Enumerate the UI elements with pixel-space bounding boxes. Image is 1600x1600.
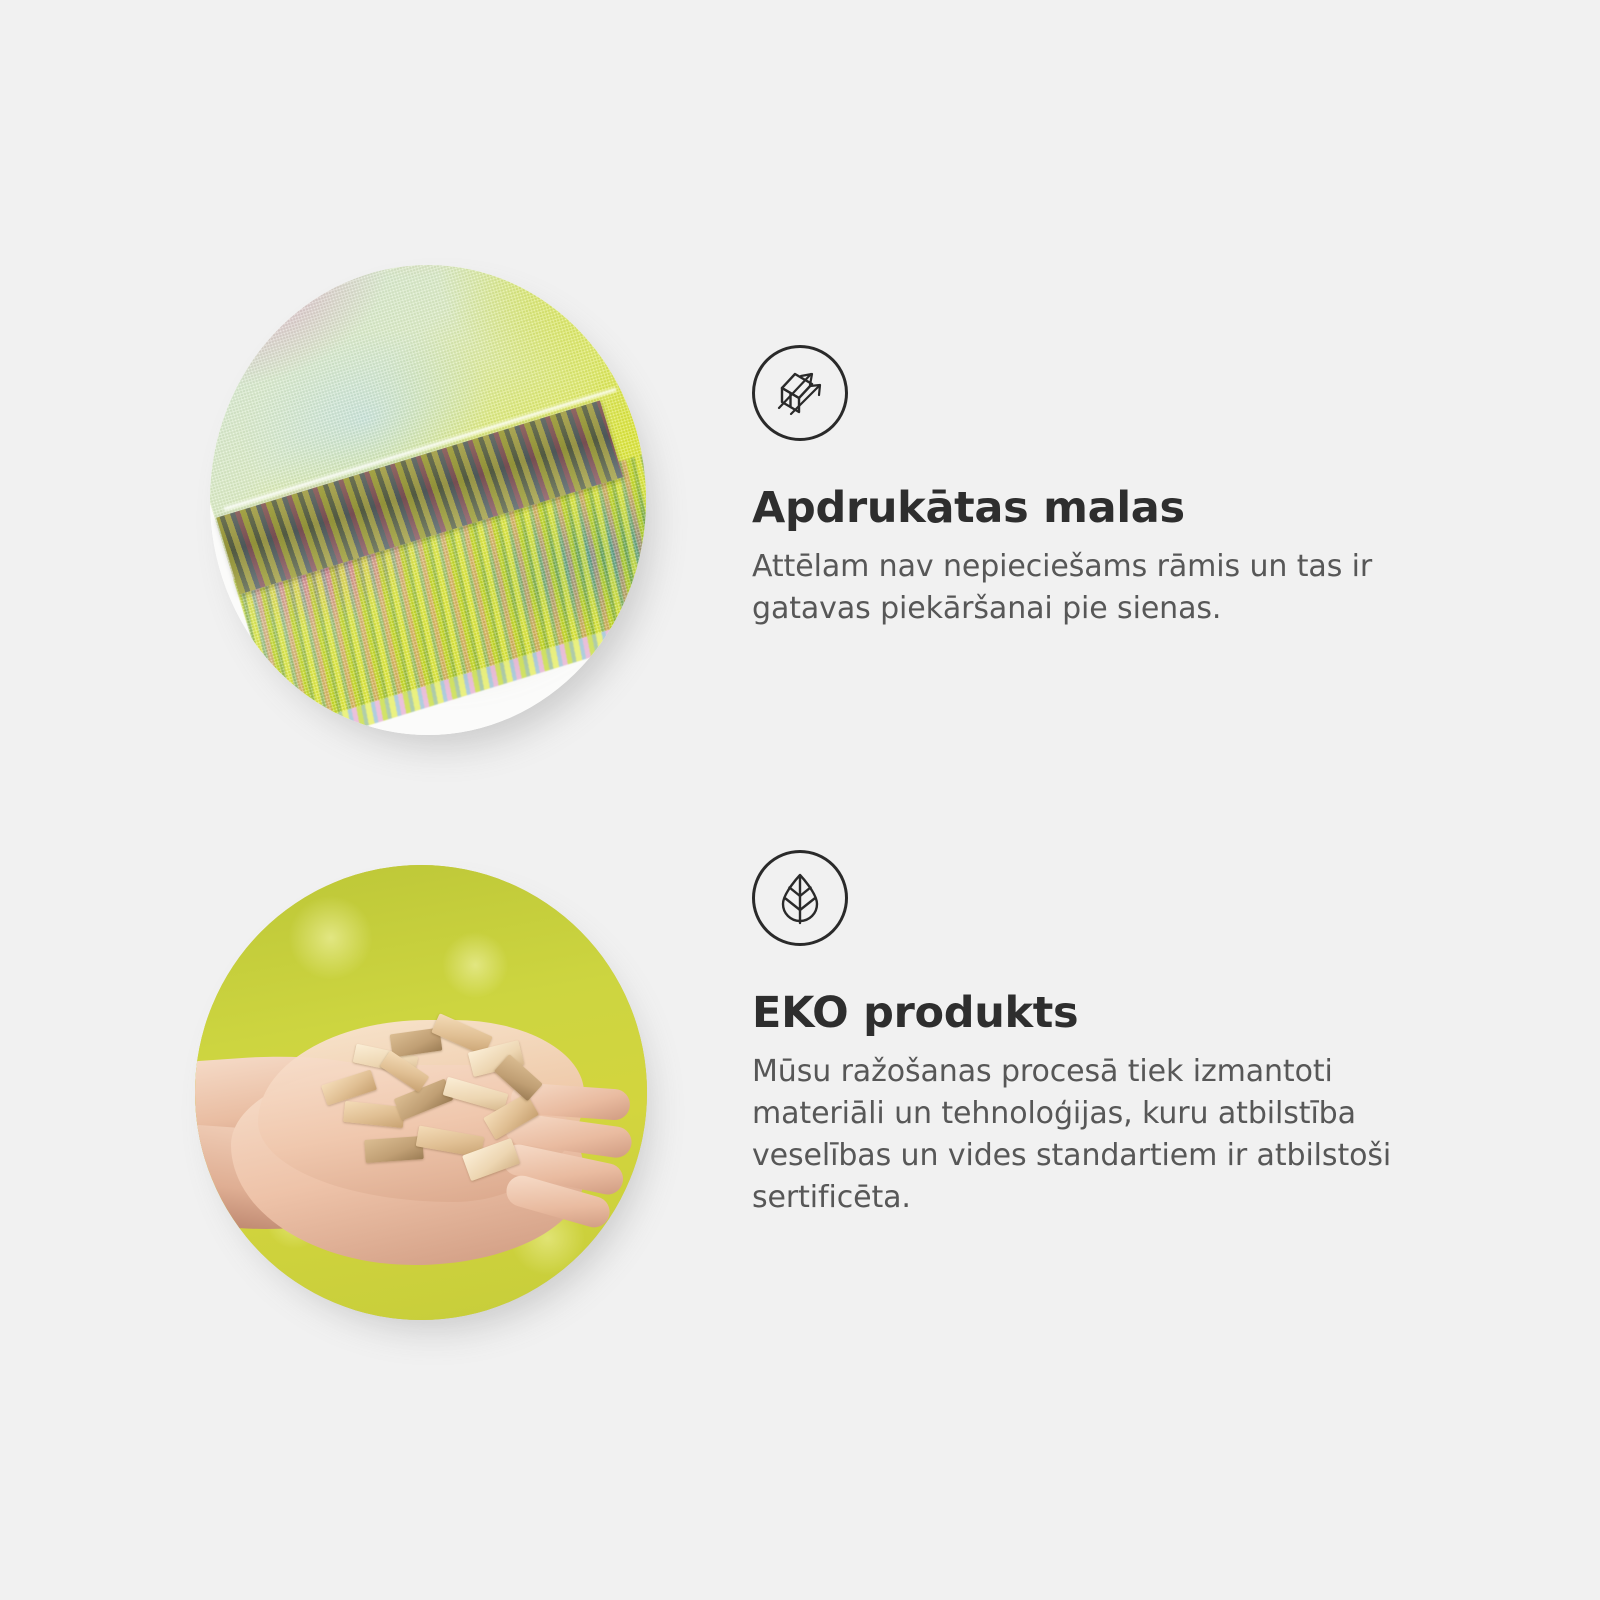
eco-wood-chips-photo — [195, 865, 647, 1320]
feature-printed-edges: Apdrukātas malas Attēlam nav nepieciešam… — [0, 250, 1600, 770]
feature-2-title: EKO produkts — [752, 990, 1492, 1037]
feature-2-content: EKO produkts Mūsu ražošanas procesā tiek… — [752, 850, 1492, 1219]
eco-photo-backdrop — [195, 865, 647, 1320]
printed-edges-icon — [752, 345, 848, 441]
feature-1-title: Apdrukātas malas — [752, 485, 1492, 532]
feature-2-description: Mūsu ražošanas procesā tiek izmantoti ma… — [752, 1051, 1472, 1219]
leaf-icon — [752, 850, 848, 946]
wood-chips-group — [313, 1020, 575, 1211]
wood-chip — [321, 1069, 377, 1105]
product-feature-panel: Apdrukātas malas Attēlam nav nepieciešam… — [0, 0, 1600, 1600]
feature-eco-product: EKO produkts Mūsu ražošanas procesā tiek… — [0, 850, 1600, 1370]
wood-chip — [442, 1076, 508, 1112]
canvas-corner-photo — [210, 265, 646, 735]
feature-1-description: Attēlam nav nepieciešams rāmis un tas ir… — [752, 546, 1482, 630]
canvas-photo-backdrop — [210, 265, 646, 735]
wood-chip — [364, 1136, 423, 1163]
feature-1-content: Apdrukātas malas Attēlam nav nepieciešam… — [752, 345, 1492, 630]
